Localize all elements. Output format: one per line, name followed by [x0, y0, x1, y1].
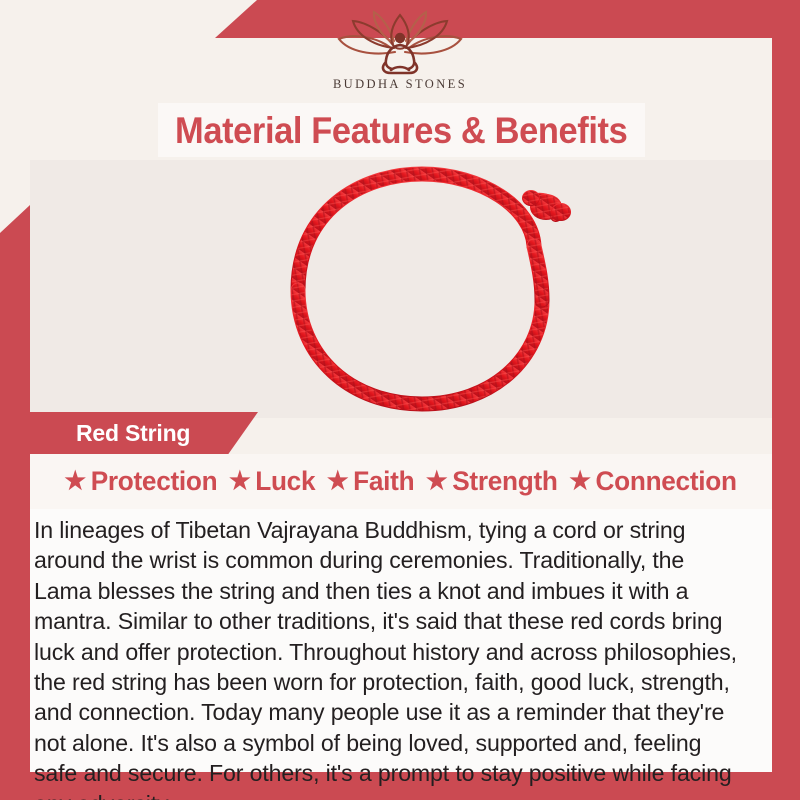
- page-title-band: Material Features & Benefits: [158, 103, 645, 157]
- brand-wordmark: BUDDHA STONES: [333, 77, 467, 92]
- frame-right-bar: [772, 0, 800, 800]
- benefit-label: Faith: [354, 466, 415, 497]
- benefit-label: Luck: [256, 466, 316, 497]
- star-icon: ★: [426, 469, 447, 494]
- benefits-band: ★ Protection ★ Luck ★ Faith ★ Strength ★…: [30, 454, 772, 509]
- frame-left-bar: [0, 205, 30, 800]
- lotus-meditation-icon: [333, 8, 467, 76]
- description-panel: In lineages of Tibetan Vajrayana Buddhis…: [30, 509, 772, 772]
- benefit-label: Connection: [596, 466, 737, 497]
- benefit-strength: ★ Strength: [426, 466, 558, 497]
- page-title: Material Features & Benefits: [175, 112, 627, 149]
- benefit-connection: ★ Connection: [570, 466, 737, 497]
- section-ribbon: Red String: [30, 412, 258, 454]
- benefit-faith: ★ Faith: [327, 466, 414, 497]
- benefit-label: Protection: [91, 466, 218, 497]
- brand-logo: BUDDHA STONES: [0, 8, 800, 92]
- infographic-page: BUDDHA STONES Material Features & Benefi…: [0, 0, 800, 800]
- section-ribbon-label: Red String: [76, 420, 190, 447]
- star-icon: ★: [327, 469, 348, 494]
- benefit-label: Strength: [453, 466, 558, 497]
- star-icon: ★: [570, 469, 591, 494]
- benefit-protection: ★ Protection: [65, 466, 218, 497]
- red-braided-string-bracelet: [30, 160, 772, 418]
- star-icon: ★: [229, 469, 250, 494]
- hero-product-image: [30, 160, 772, 418]
- star-icon: ★: [65, 469, 86, 494]
- benefits-row: ★ Protection ★ Luck ★ Faith ★ Strength ★…: [65, 466, 737, 497]
- benefit-luck: ★ Luck: [229, 466, 315, 497]
- description-text: In lineages of Tibetan Vajrayana Buddhis…: [34, 515, 747, 800]
